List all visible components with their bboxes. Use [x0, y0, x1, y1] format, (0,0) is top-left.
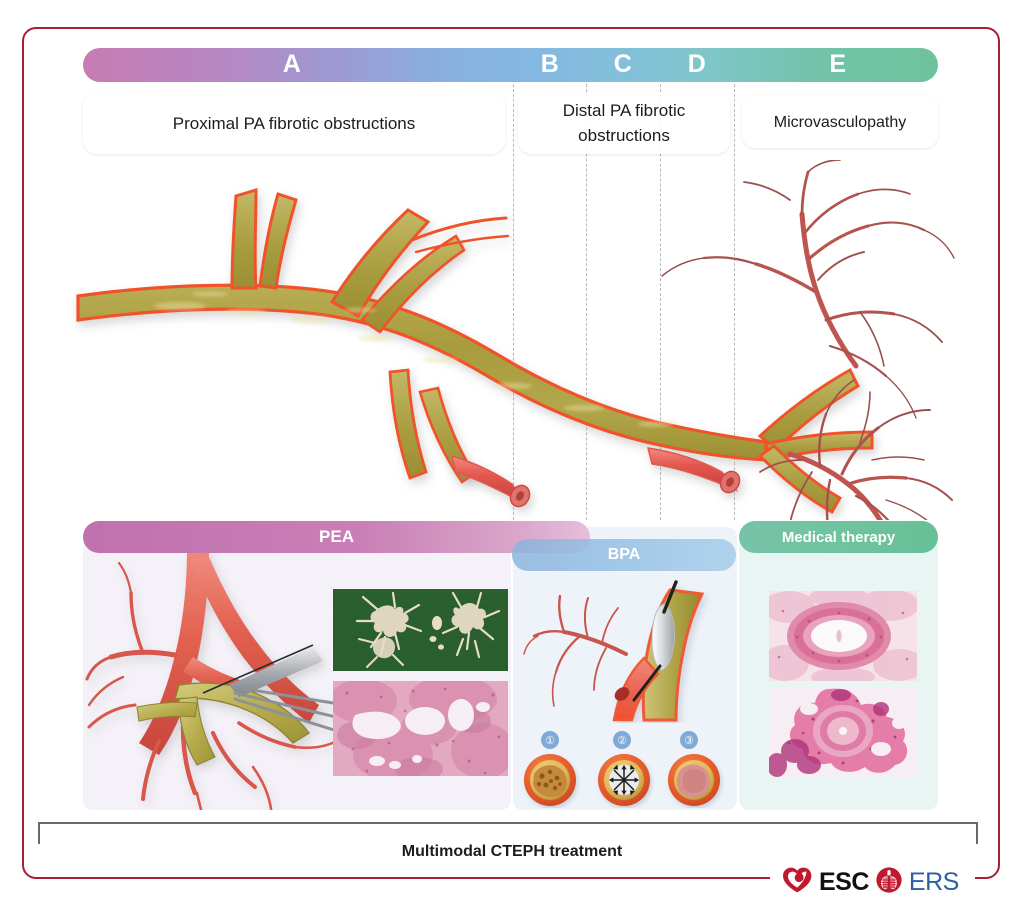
bpa-cross-sections — [516, 752, 736, 808]
lesion-card-microvasculopathy: Microvasculopathy — [742, 96, 938, 148]
treatment-pill-pea-label: PEA — [319, 527, 354, 547]
gradient-letter-b: B — [541, 50, 560, 79]
bpa-step-3-number: ③ — [680, 731, 698, 749]
esc-heart-icon — [782, 866, 812, 899]
pea-specimen-photo — [333, 589, 508, 671]
gradient-letter-e: E — [829, 50, 846, 79]
microvasculature-upper — [662, 160, 954, 418]
patent-vessel-stump-left — [452, 456, 533, 510]
ers-lung-icon — [876, 867, 902, 898]
bpa-step-2-number: ② — [613, 731, 631, 749]
pulmonary-artery-illustration — [60, 160, 960, 520]
gradient-letter-d: D — [688, 50, 707, 79]
gradient-letter-a: A — [283, 50, 302, 79]
lesion-card-distal-label: Distal PA fibrotic obstructions — [528, 98, 720, 148]
treatment-pill-bpa-label: BPA — [608, 546, 641, 564]
ers-logo-text: ERS — [909, 868, 959, 897]
lesion-card-distal: Distal PA fibrotic obstructions — [518, 92, 730, 154]
treatment-pill-medical: Medical therapy — [739, 521, 938, 553]
severity-gradient-bar — [83, 48, 938, 82]
pea-histology-photo — [333, 681, 508, 776]
gradient-letter-c: C — [614, 50, 633, 79]
treatment-pill-bpa: BPA — [512, 539, 736, 571]
society-logos: ESC ERS — [782, 866, 959, 898]
bpa-step-1-number: ① — [541, 731, 559, 749]
summary-bracket — [38, 822, 978, 844]
medical-histology-photo-2 — [769, 687, 917, 777]
medical-histology-photo-1 — [769, 591, 917, 681]
treatment-pill-medical-label: Medical therapy — [782, 529, 895, 546]
esc-logo-text: ESC — [819, 868, 869, 897]
figure-caption: Multimodal CTEPH treatment — [0, 843, 1024, 861]
trunk-highlights — [154, 291, 674, 426]
lesion-card-proximal: Proximal PA fibrotic obstructions — [83, 92, 505, 154]
bpa-balloon-illustration — [518, 578, 733, 723]
lesion-card-proximal-label: Proximal PA fibrotic obstructions — [173, 111, 416, 136]
lesion-card-microvasculopathy-label: Microvasculopathy — [774, 110, 907, 135]
